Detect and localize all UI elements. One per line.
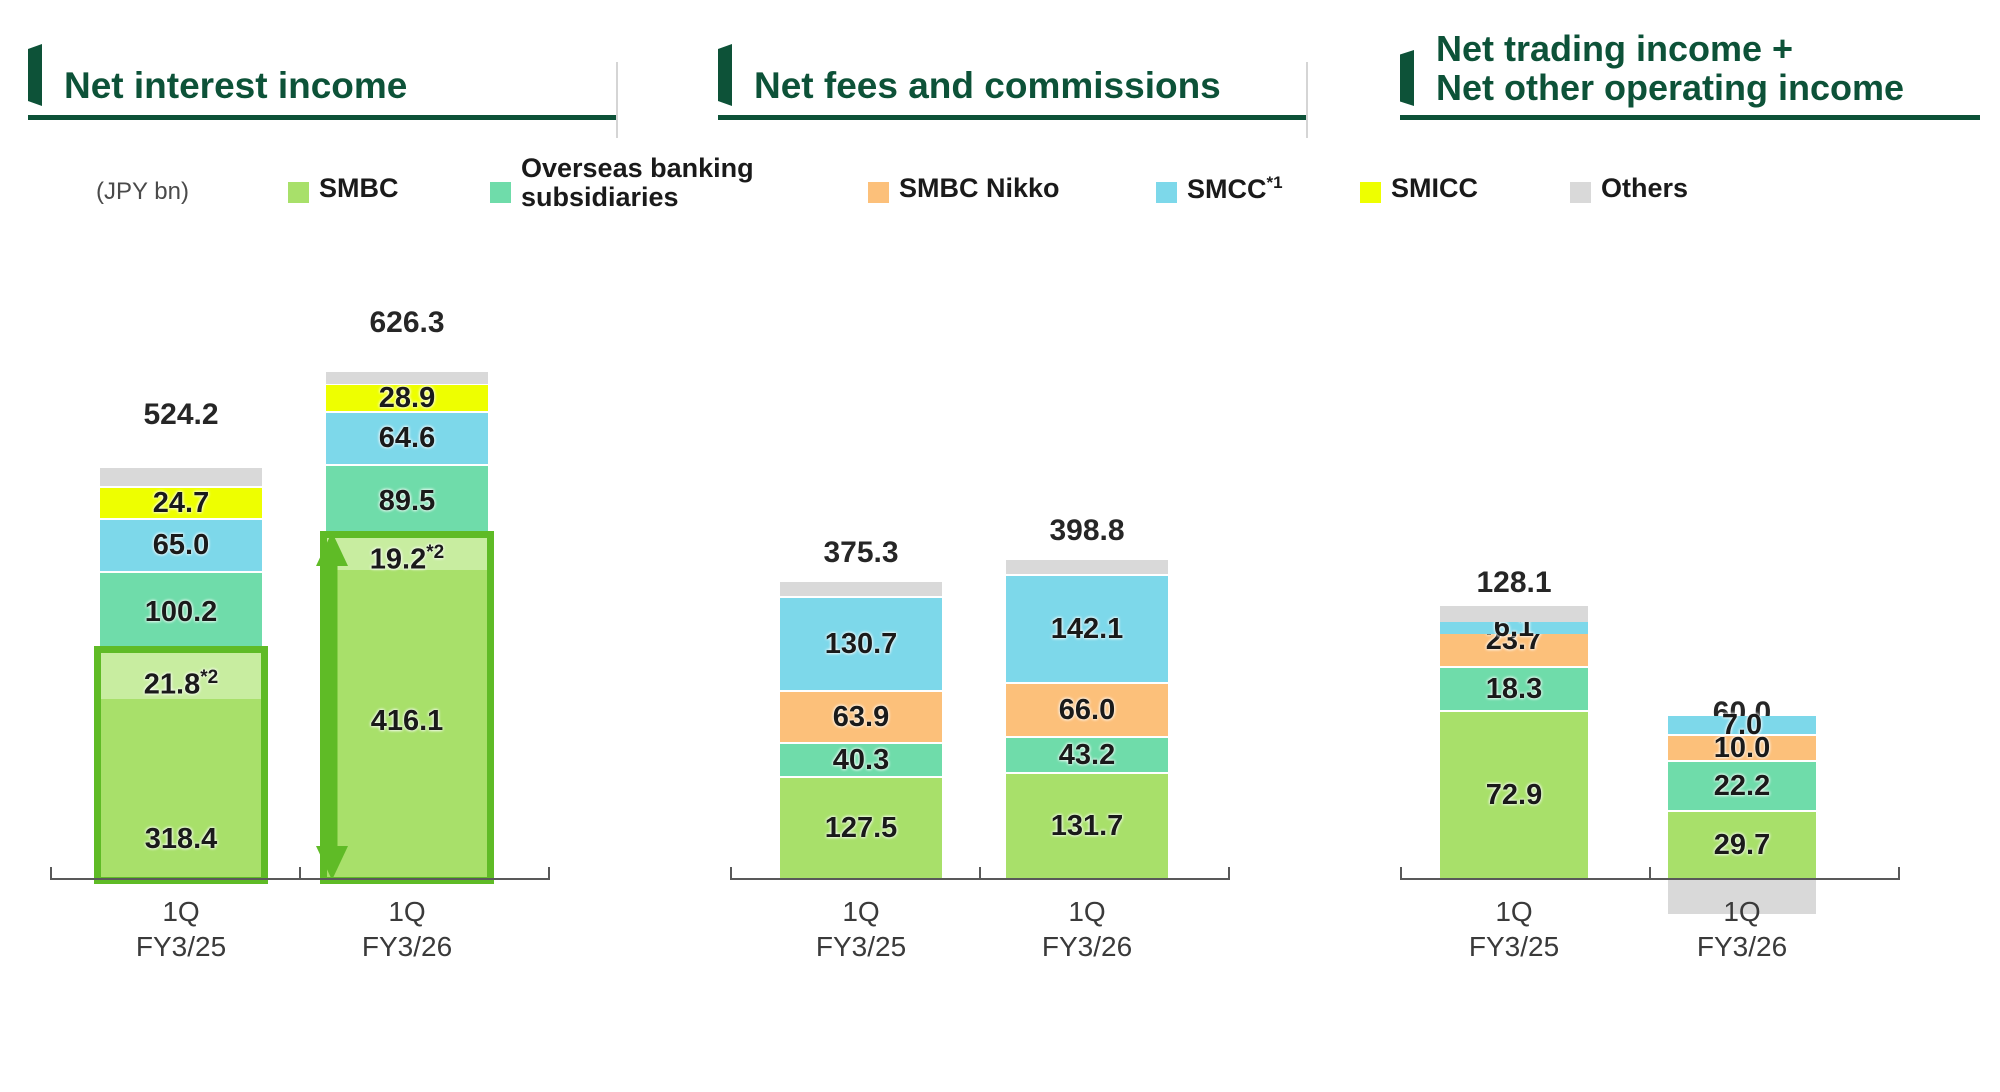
- segment-value-overseas: 43.2: [1059, 739, 1115, 772]
- header-underline: [28, 115, 618, 120]
- segment-value-smcc: 142.1: [1051, 613, 1124, 646]
- section-header-net-trading-and-other-operating-income: Net trading income + Net other operating…: [1400, 0, 1980, 120]
- double-arrow-icon: [310, 532, 354, 880]
- legend-label-nikko: SMBC Nikko: [899, 174, 1060, 203]
- axis-tick-start: [50, 867, 52, 880]
- slide-root: Net interest income Net fees and commiss…: [0, 0, 2000, 1092]
- legend-swatch-smbc: [288, 182, 309, 203]
- segment-overseas[interactable]: 43.2: [1006, 738, 1168, 772]
- axis-tick-end: [548, 867, 550, 880]
- legend-item-smicc: SMICC: [1360, 174, 1478, 203]
- chart-legend: (JPY bn) SMBC Overseas banking subsidiar…: [0, 168, 2000, 234]
- stacked-bar[interactable]: 72.9 18.3 23.7 6.1: [1440, 610, 1588, 878]
- axis-tick-mid: [299, 867, 301, 880]
- segment-overseas[interactable]: 100.2: [100, 573, 262, 651]
- segment-value-overseas: 22.2: [1714, 770, 1770, 803]
- chart-net-fees-and-commissions: 375.3 127.5 40.3 63.9 130.7 1Q FY3/25 39…: [730, 250, 1270, 970]
- footnote-marker-1: *1: [1267, 173, 1283, 192]
- segment-value-smcc: 7.0: [1722, 709, 1762, 742]
- section-header-net-interest-income: Net interest income: [28, 28, 618, 120]
- segment-smbc[interactable]: 127.5: [780, 778, 942, 878]
- legend-label-others: Others: [1601, 174, 1688, 203]
- segment-value-smicc: 28.9: [379, 382, 435, 415]
- segment-value-smbc: 72.9: [1486, 779, 1542, 812]
- segment-value-overseas: 18.3: [1486, 673, 1542, 706]
- segment-value-overseas: 89.5: [379, 485, 435, 518]
- bar-group-fy25[interactable]: 524.2 318.4 21.8*2 100.2 65.0 24.7: [100, 318, 262, 878]
- segment-others[interactable]: [1006, 560, 1168, 574]
- bar-total-fy25: 524.2: [100, 398, 262, 432]
- segment-smbc[interactable]: 318.4 21.8*2: [100, 653, 262, 878]
- segment-smbc[interactable]: 131.7: [1006, 774, 1168, 878]
- header-divider: [1306, 62, 1308, 138]
- segment-value-overseas: 100.2: [145, 596, 218, 629]
- bar-total-fy26: 626.3: [326, 306, 488, 340]
- segment-overseas[interactable]: 22.2: [1668, 762, 1816, 810]
- segment-value-nikko: 63.9: [833, 701, 889, 734]
- growth-arrow: [310, 532, 354, 880]
- legend-item-smcc: SMCC*1: [1156, 174, 1283, 204]
- segment-smcc[interactable]: 6.1: [1440, 620, 1588, 634]
- stacked-bar[interactable]: 318.4 21.8*2 100.2 65.0 24.7: [100, 468, 262, 878]
- legend-swatch-smcc: [1156, 182, 1177, 203]
- section-title: Net trading income + Net other operating…: [1436, 30, 1904, 108]
- segment-value-smcc: 130.7: [825, 628, 898, 661]
- segment-value-smbc: 318.4: [145, 823, 218, 856]
- header-accent-bar: [28, 44, 42, 106]
- bar-group-fy26[interactable]: 398.8 131.7 43.2 66.0 142.1 1Q FY3/26: [1006, 318, 1168, 878]
- legend-label-smcc: SMCC*1: [1187, 174, 1283, 204]
- segment-overseas[interactable]: 40.3: [780, 744, 942, 776]
- header-accent-bar: [718, 44, 732, 106]
- axis-tick-mid: [1649, 867, 1651, 880]
- legend-label-overseas: Overseas banking subsidiaries: [521, 154, 754, 211]
- bar-total-fy26: 398.8: [1006, 514, 1168, 548]
- legend-item-smbc-nikko: SMBC Nikko: [868, 174, 1060, 203]
- segment-smicc[interactable]: 28.9: [326, 385, 488, 411]
- segment-value-smcc: 65.0: [153, 529, 209, 562]
- axis-tick-end: [1898, 867, 1900, 880]
- legend-swatch-smicc: [1360, 182, 1381, 203]
- segment-smcc[interactable]: 64.6: [326, 413, 488, 464]
- segment-nikko[interactable]: 63.9: [780, 692, 942, 742]
- legend-item-overseas-banking-subsidiaries: Overseas banking subsidiaries: [490, 154, 754, 211]
- legend-item-others: Others: [1570, 174, 1688, 203]
- bar-group-fy25[interactable]: 128.1 72.9 18.3 23.7 6.1 1Q FY3/25: [1440, 318, 1588, 878]
- segment-smicc[interactable]: 24.7: [100, 488, 262, 518]
- segment-value-smbc-subcomponent: 21.8*2: [144, 667, 218, 702]
- x-axis-label-fy26: 1Q FY3/26: [1006, 894, 1168, 964]
- x-axis-label-fy26: 1Q FY3/26: [326, 894, 488, 964]
- section-header-net-fees-and-commissions: Net fees and commissions: [718, 28, 1308, 120]
- legend-swatch-nikko: [868, 182, 889, 203]
- segment-value-smbc-subcomponent: 19.2*2: [370, 542, 444, 577]
- stacked-bar[interactable]: 131.7 43.2 66.0 142.1: [1006, 560, 1168, 878]
- axis-tick-mid: [979, 867, 981, 880]
- segment-smcc[interactable]: 142.1: [1006, 576, 1168, 682]
- x-axis-label-fy25: 1Q FY3/25: [1440, 894, 1588, 964]
- segment-value-smbc: 131.7: [1051, 810, 1124, 843]
- bar-group-fy26[interactable]: 60.0 29.7 22.2 10.0 7.0 1Q FY3/26: [1668, 318, 1816, 878]
- segment-value-smbc: 29.7: [1714, 829, 1770, 862]
- segment-overseas[interactable]: 89.5: [326, 466, 488, 536]
- x-axis-label-fy26: 1Q FY3/26: [1668, 894, 1816, 964]
- header-underline: [1400, 115, 1980, 120]
- bar-total-fy25: 128.1: [1440, 566, 1588, 600]
- segment-smcc[interactable]: 65.0: [100, 520, 262, 571]
- x-axis-label-fy25: 1Q FY3/25: [780, 894, 942, 964]
- legend-label-smicc: SMICC: [1391, 174, 1478, 203]
- segment-others[interactable]: [1440, 606, 1588, 622]
- segment-value-smcc: 64.6: [379, 422, 435, 455]
- x-axis-label-fy25: 1Q FY3/25: [100, 894, 262, 964]
- segment-value-smbc: 127.5: [825, 812, 898, 845]
- segment-value-overseas: 40.3: [833, 744, 889, 777]
- segment-others[interactable]: [100, 468, 262, 486]
- segment-nikko[interactable]: 66.0: [1006, 684, 1168, 736]
- stacked-bar[interactable]: 29.7 22.2 10.0 7.0: [1668, 740, 1816, 878]
- section-title: Net fees and commissions: [754, 66, 1221, 106]
- segment-value-smicc: 24.7: [153, 487, 209, 520]
- segment-smbc[interactable]: 72.9: [1440, 712, 1588, 878]
- segment-smbc[interactable]: 29.7: [1668, 812, 1816, 878]
- legend-swatch-others: [1570, 182, 1591, 203]
- segment-value-nikko: 66.0: [1059, 694, 1115, 727]
- legend-swatch-overseas: [490, 182, 511, 203]
- bar-group-fy25[interactable]: 375.3 127.5 40.3 63.9 130.7 1Q FY3/25: [780, 318, 942, 878]
- axis-tick-end: [1228, 867, 1230, 880]
- stacked-bar[interactable]: 127.5 40.3 63.9 130.7: [780, 582, 942, 878]
- segment-smcc[interactable]: 130.7: [780, 598, 942, 690]
- axis-tick-start: [730, 867, 732, 880]
- header-underline: [718, 115, 1308, 120]
- bar-group-fy26[interactable]: 626.3 416.1 19.2*2 89.5 64.6 28.9: [326, 178, 488, 878]
- chart-net-interest-income: 524.2 318.4 21.8*2 100.2 65.0 24.7: [50, 250, 590, 970]
- chart-net-trading-and-other-operating-income: 128.1 72.9 18.3 23.7 6.1 1Q FY3/25 60.0: [1400, 250, 1940, 970]
- section-title: Net interest income: [64, 66, 407, 106]
- axis-tick-start: [1400, 867, 1402, 880]
- segment-others[interactable]: [780, 582, 942, 596]
- segment-smcc[interactable]: 7.0: [1668, 716, 1816, 734]
- segment-others[interactable]: [326, 372, 488, 384]
- segment-value-smbc: 416.1: [371, 705, 444, 738]
- header-accent-bar: [1400, 50, 1414, 106]
- header-divider: [616, 62, 618, 138]
- segment-overseas[interactable]: 18.3: [1440, 668, 1588, 710]
- unit-label: (JPY bn): [96, 178, 189, 206]
- bar-total-fy25: 375.3: [780, 536, 942, 570]
